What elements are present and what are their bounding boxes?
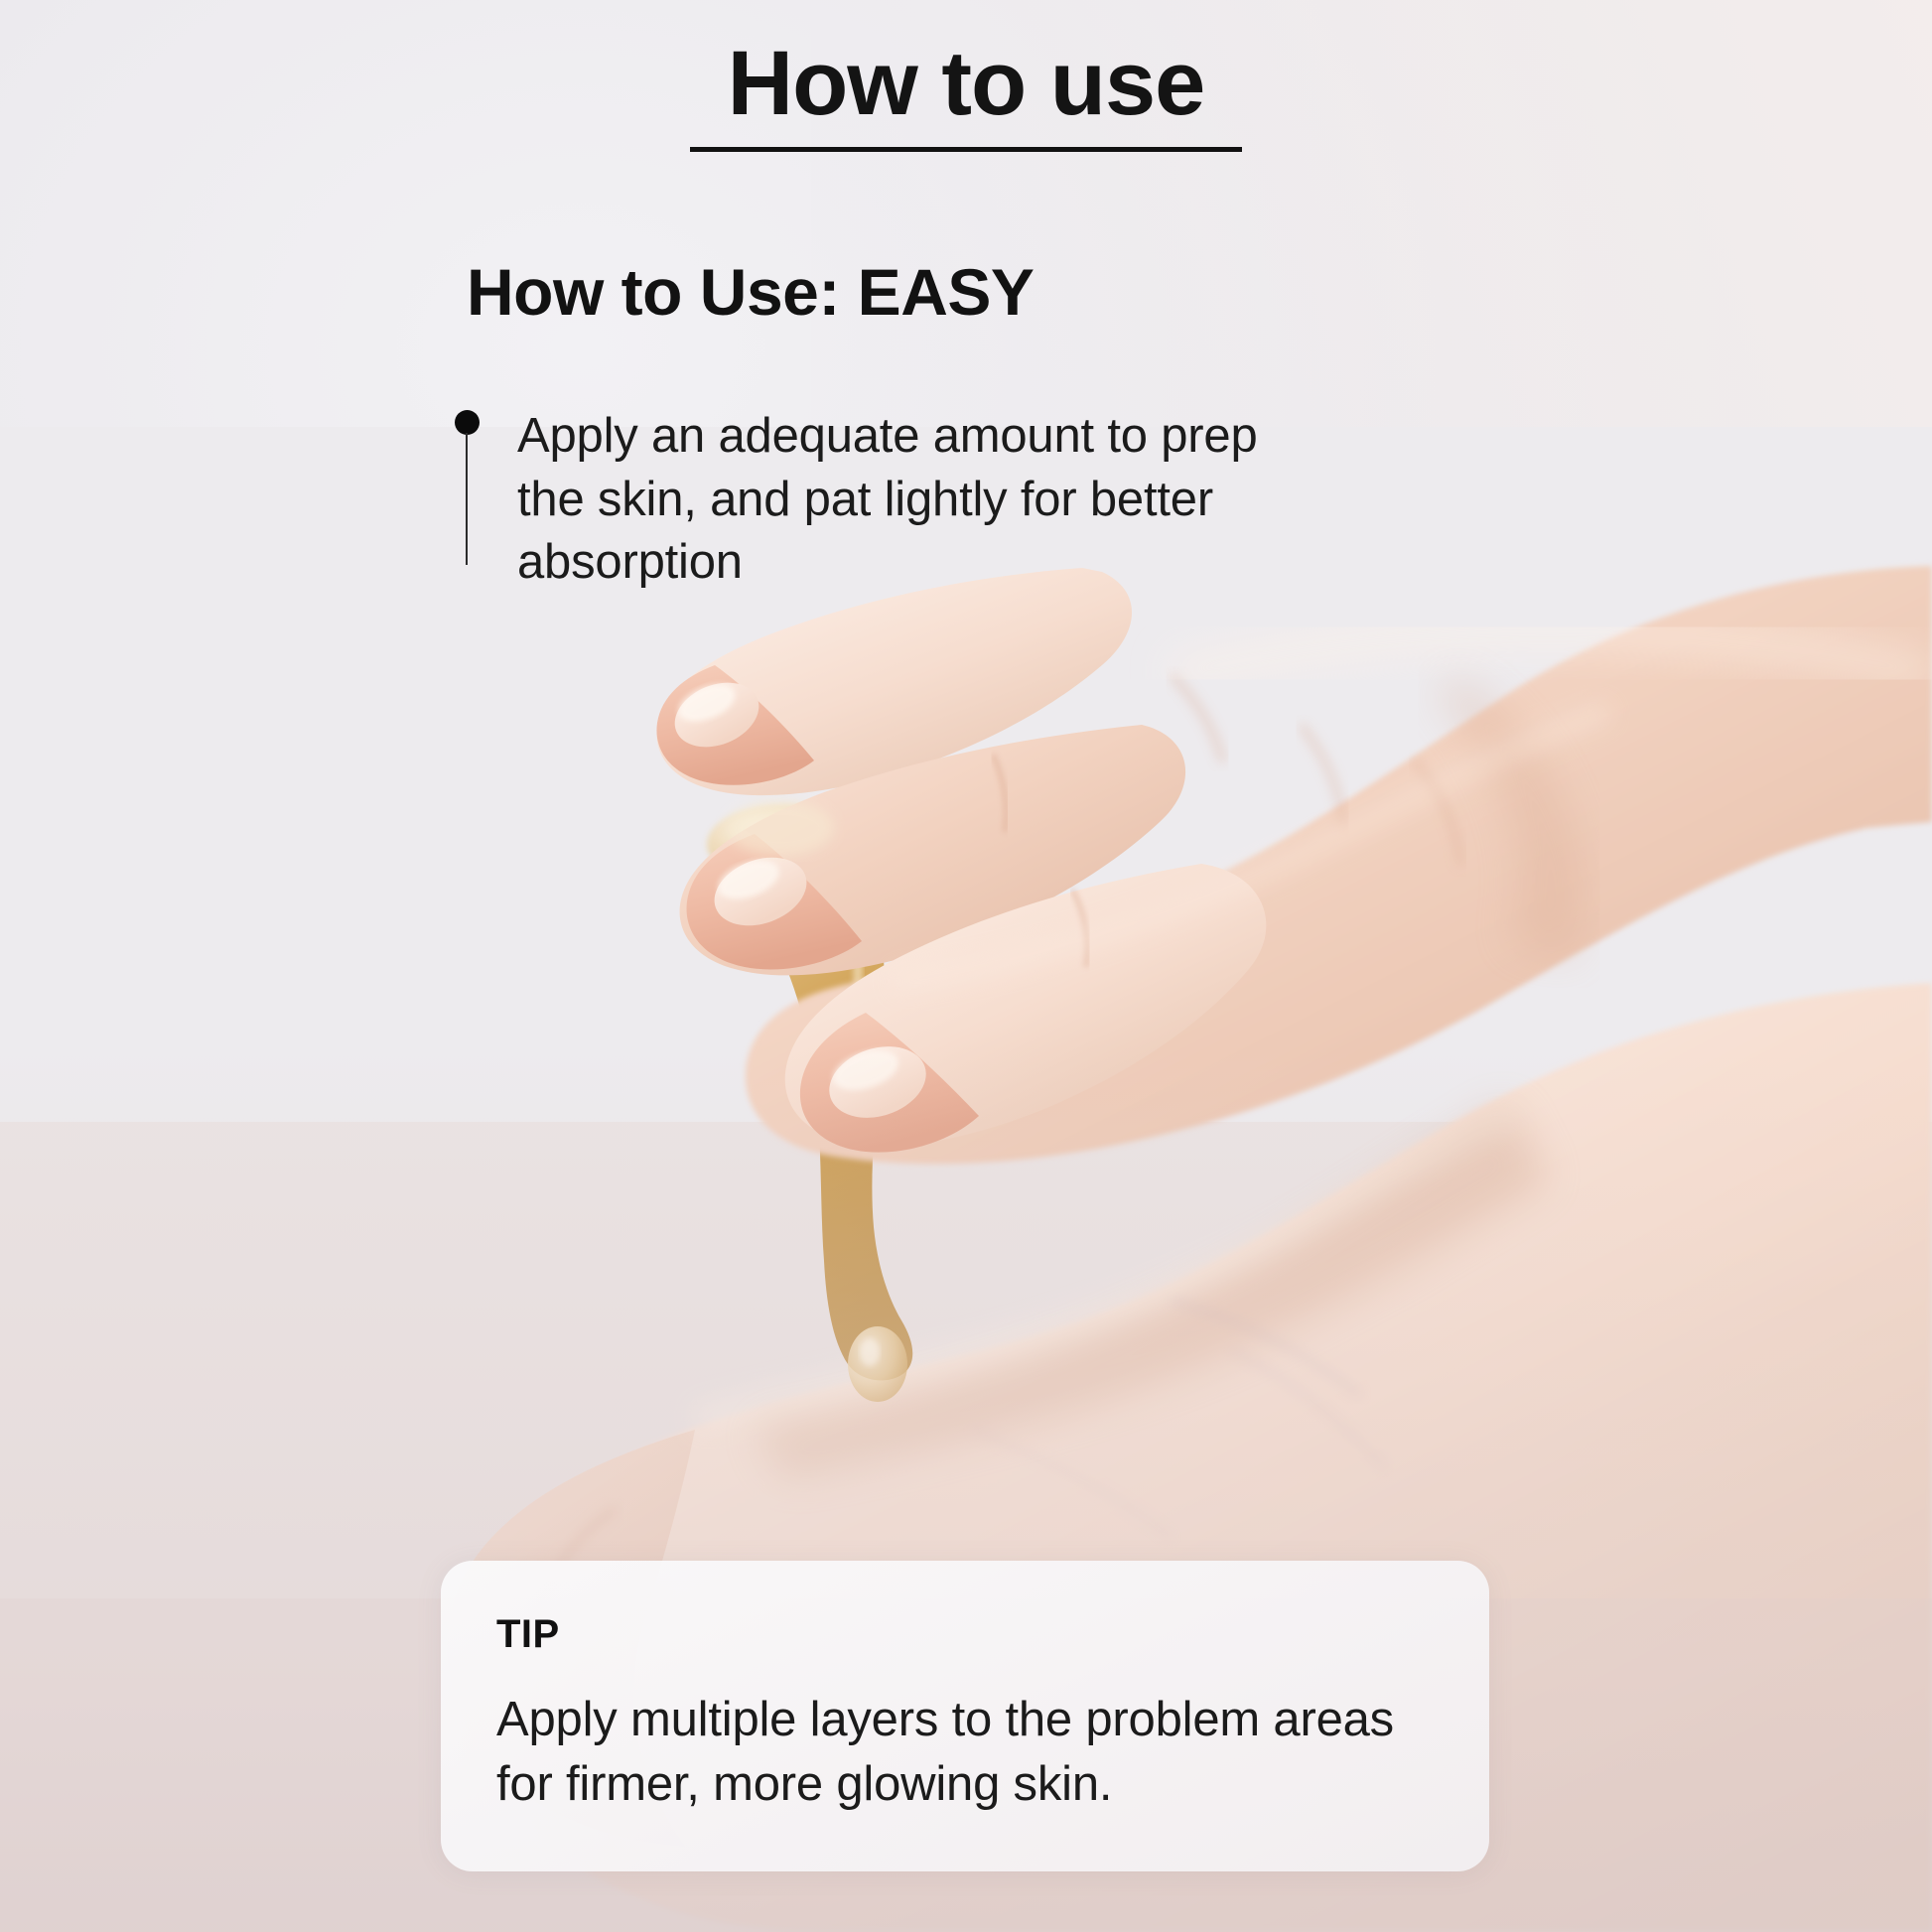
pin-dot-icon xyxy=(455,410,480,435)
pin-bullet-icon xyxy=(452,405,482,564)
bullet-text: Apply an adequate amount to prep the ski… xyxy=(452,405,1276,595)
how-to-use-infographic: How to use How to Use: EASY Apply an ade… xyxy=(0,0,1932,1932)
tip-body-text: Apply multiple layers to the problem are… xyxy=(496,1688,1449,1816)
title-underline-divider xyxy=(690,147,1242,152)
section-heading: How to Use: EASY xyxy=(467,254,1034,330)
page-title: How to use xyxy=(0,36,1932,133)
tip-label: TIP xyxy=(496,1612,560,1657)
pin-stem-icon xyxy=(466,433,468,565)
tip-card: TIP Apply multiple layers to the problem… xyxy=(441,1561,1489,1871)
list-item: Apply an adequate amount to prep the ski… xyxy=(452,405,1276,595)
header: How to use xyxy=(0,36,1932,152)
